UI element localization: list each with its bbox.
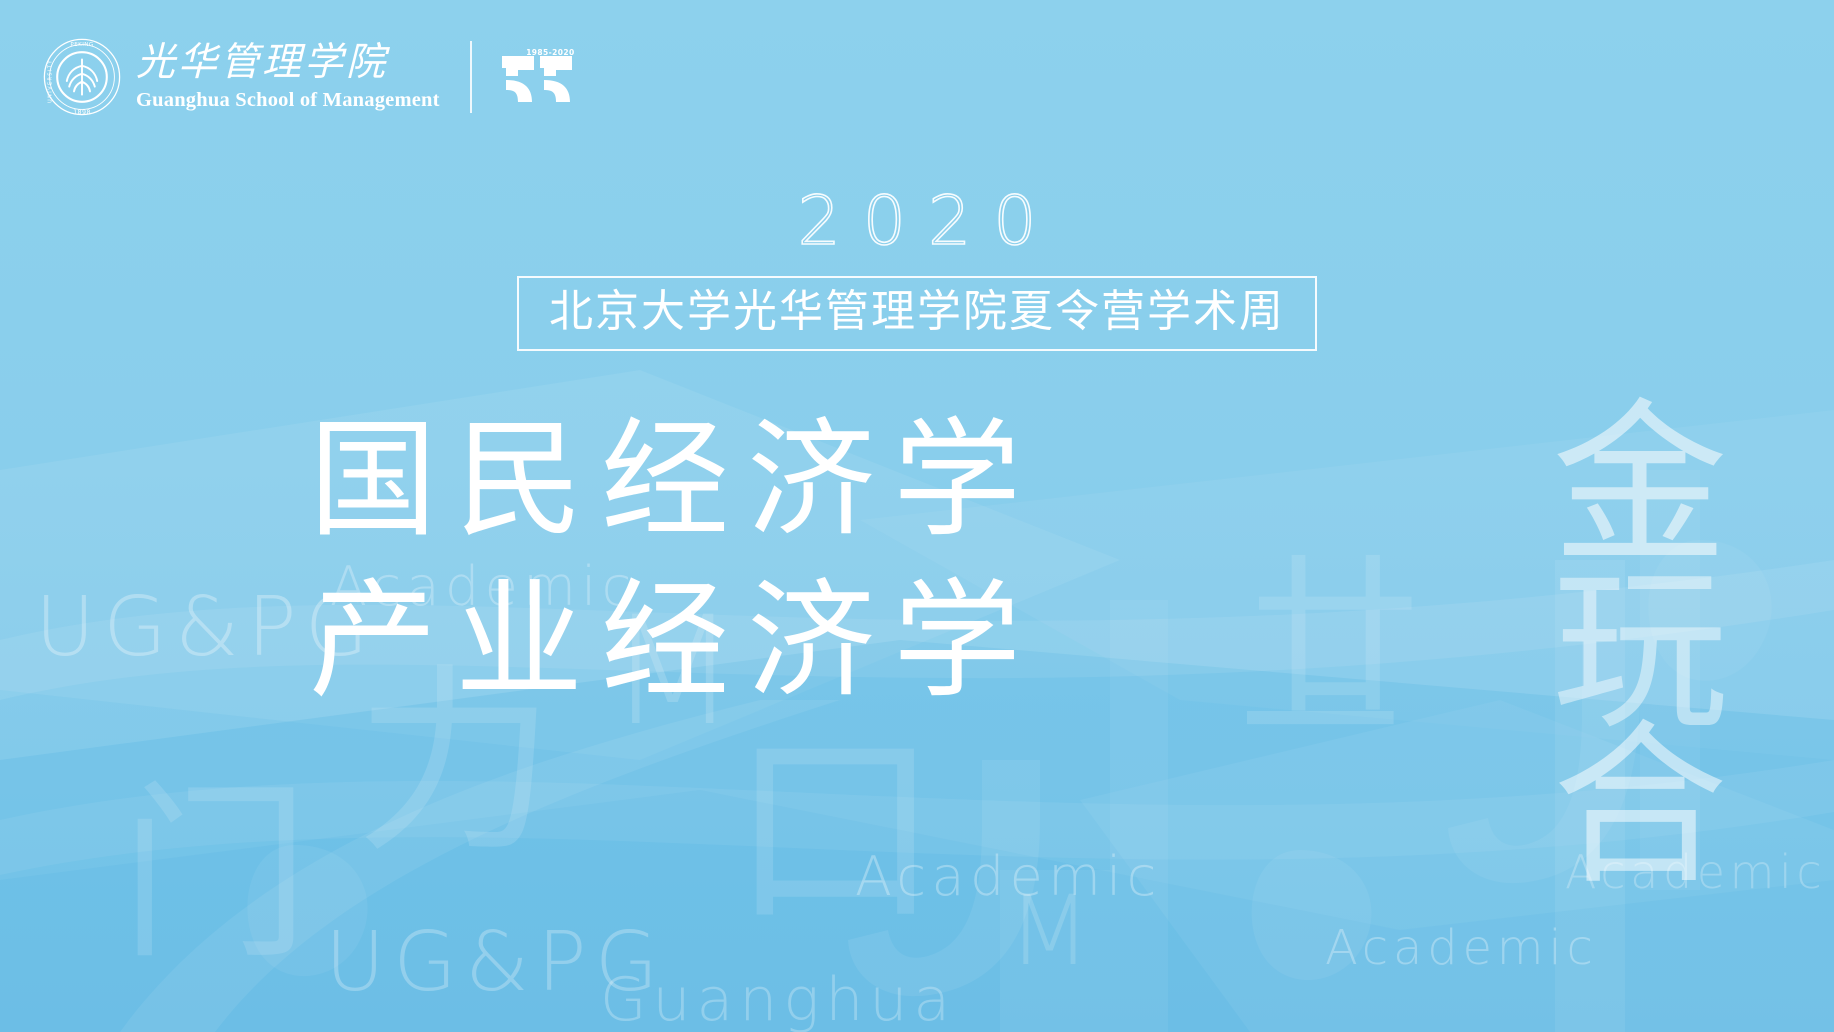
- watermark-5: Academic: [1325, 920, 1598, 976]
- subtitle-box: 北京大学光华管理学院夏令营学术周: [517, 276, 1317, 351]
- svg-text:1898: 1898: [73, 108, 91, 116]
- logo-divider: [470, 41, 472, 113]
- title-line-1: 国民经济学: [0, 400, 1330, 561]
- title-line-2: 产业经济学: [0, 561, 1330, 722]
- ghost-char-3: 合: [1480, 721, 1800, 893]
- school-name-cn: 光华管理学院: [136, 43, 440, 82]
- brand-name-block: 光华管理学院 Guanghua School of Management: [136, 37, 440, 117]
- svg-text:U N I V E R S I T Y: U N I V E R S I T Y: [48, 61, 54, 103]
- poster-canvas: UG&PGUG&PGAcademicAcademicAcademicAcadem…: [0, 0, 1834, 1032]
- subtitle-text: 北京大学光华管理学院夏令营学术周: [549, 289, 1285, 335]
- 35-anniversary-icon: 1985-2020: [498, 46, 576, 108]
- anniversary-years: 1985-2020: [526, 48, 574, 57]
- watermark-2: UG&PG: [325, 915, 667, 1010]
- watermark-7: Guanghua: [600, 965, 956, 1032]
- watermark-9: M: [1008, 875, 1100, 987]
- watermark-6: Academic: [1565, 845, 1826, 899]
- year-2020: 2020: [0, 188, 1834, 256]
- peking-university-seal-icon: PEKING 1898 U N I V E R S I T Y: [42, 37, 122, 117]
- svg-text:PEKING: PEKING: [70, 42, 93, 48]
- watermark-4: Academic: [855, 845, 1162, 908]
- ghost-char-2: 玩: [1480, 566, 1800, 738]
- watermark-11: 门: [120, 720, 321, 995]
- ghost-char-1: 金: [1480, 400, 1800, 572]
- school-name-en: Guanghua School of Management: [136, 89, 440, 112]
- brand-logo-bar: PEKING 1898 U N I V E R S I T Y 光华管理学院 G…: [42, 34, 576, 120]
- main-title: 国民经济学 产业经济学: [0, 400, 1330, 723]
